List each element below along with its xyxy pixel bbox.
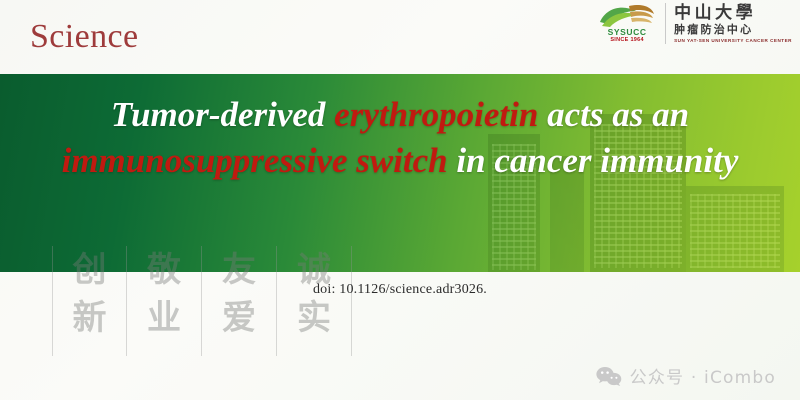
slide-canvas: Science SYSUCC SINCE 1964 中山大學 肿瘤防治中心 (0, 0, 800, 400)
sysucc-since: SINCE 1964 (596, 37, 658, 44)
calligraphy-column-3: 友 爱 (202, 246, 277, 356)
science-journal-wordmark: Science (30, 18, 139, 56)
paper-title: Tumor-derived erythropoietin acts as an … (0, 92, 800, 184)
sysucc-logo-wordmark: 中山大學 肿瘤防治中心 SUN YAT-SEN UNIVERSITY CANCE… (665, 3, 792, 44)
wechat-watermark: 公众号 · iCombo (596, 363, 776, 388)
calligraphy-column-4: 诚 实 (277, 246, 352, 356)
building-windows-wing (690, 194, 780, 268)
title-seg-3-highlight: immunosuppressive switch (62, 141, 448, 180)
sysucc-emblem-text: SYSUCC SINCE 1964 (596, 28, 658, 44)
calligraphy-watermark: 创 新 敬 业 友 爱 诚 实 (52, 246, 352, 356)
title-banner: 公众号 · iCombo Tumor-derived erythropoieti… (0, 74, 800, 272)
doi-text: doi: 10.1126/science.adr3026. (0, 282, 800, 298)
calligraphy-char-3-bottom: 爱 (222, 294, 256, 342)
sysucc-acronym: SYSUCC (596, 28, 658, 37)
wechat-icon (596, 366, 622, 386)
cancer-center-name-cn: 肿瘤防治中心 (674, 23, 792, 37)
title-seg-0: Tumor-derived (111, 95, 334, 134)
title-seg-1-highlight: erythropoietin (334, 95, 538, 134)
sysucc-emblem-icon (596, 2, 658, 30)
calligraphy-char-2-bottom: 业 (147, 294, 181, 342)
title-seg-4: in cancer immunity (448, 141, 739, 180)
wechat-watermark-label: 公众号 · iCombo (630, 363, 776, 388)
calligraphy-char-4-bottom: 实 (297, 294, 331, 342)
university-name-cn: 中山大學 (674, 4, 792, 23)
slide-header: Science SYSUCC SINCE 1964 中山大學 肿瘤防治中心 (0, 0, 800, 74)
calligraphy-char-1-bottom: 新 (73, 294, 107, 342)
sysucc-logo: SYSUCC SINCE 1964 中山大學 肿瘤防治中心 SUN YAT-SE… (596, 3, 792, 45)
title-seg-2: acts as an (538, 95, 689, 134)
sysucc-emblem: SYSUCC SINCE 1964 (596, 3, 658, 45)
calligraphy-column-1: 创 新 (52, 246, 127, 356)
cancer-center-name-en: SUN YAT-SEN UNIVERSITY CANCER CENTER (674, 37, 792, 44)
calligraphy-column-2: 敬 业 (127, 246, 202, 356)
